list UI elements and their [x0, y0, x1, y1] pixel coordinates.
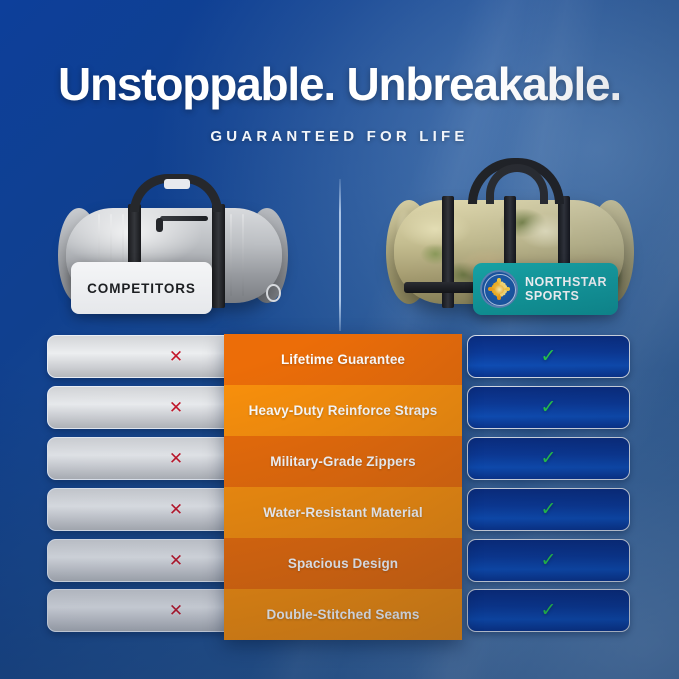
competitors-label-text: COMPETITORS [87, 281, 196, 296]
bag-clip [266, 284, 281, 302]
brand-cell: ✓ [467, 539, 630, 582]
check-icon: ✓ [541, 398, 557, 417]
bag-wrinkle [230, 214, 232, 296]
feature-column: Lifetime Guarantee Heavy-Duty Reinforce … [224, 334, 462, 640]
competitors-label: COMPETITORS [71, 262, 212, 314]
check-icon: ✓ [541, 551, 557, 570]
brand-cell: ✓ [467, 335, 630, 378]
cross-icon: ✕ [169, 399, 183, 416]
cross-icon: ✕ [169, 348, 183, 365]
compass-star-seal-icon [480, 270, 518, 308]
bag-handle-wrap [164, 179, 190, 189]
brand-name-line1: NORTHSTAR [525, 275, 607, 289]
cross-icon: ✕ [169, 501, 183, 518]
brand-badge: NORTHSTAR SPORTS [473, 263, 618, 315]
cross-icon: ✕ [169, 602, 183, 619]
check-icon: ✓ [541, 601, 557, 620]
page-subtitle: GUARANTEED FOR LIFE [0, 128, 679, 145]
feature-label: Heavy-Duty Reinforce Straps [224, 385, 462, 436]
page-title: Unstoppable. Unbreakable. [0, 57, 679, 111]
bag-zipper [160, 216, 208, 221]
feature-label: Lifetime Guarantee [224, 334, 462, 385]
feature-label: Double-Stitched Seams [224, 589, 462, 640]
bag-zipper-pull [156, 218, 163, 232]
brand-cell: ✓ [467, 386, 630, 429]
brand-cell: ✓ [467, 589, 630, 632]
brand-cell: ✓ [467, 437, 630, 480]
feature-label: Military-Grade Zippers [224, 436, 462, 487]
check-icon: ✓ [541, 347, 557, 366]
cross-icon: ✕ [169, 552, 183, 569]
brand-name-line2: SPORTS [525, 289, 607, 303]
feature-label: Spacious Design [224, 538, 462, 589]
brand-name: NORTHSTAR SPORTS [525, 275, 607, 303]
feature-label: Water-Resistant Material [224, 487, 462, 538]
bag-strap [212, 204, 225, 308]
check-icon: ✓ [541, 500, 557, 519]
product-comparison-graphic: Unstoppable. Unbreakable. GUARANTEED FOR… [0, 0, 679, 679]
bag-wrinkle [242, 214, 244, 296]
check-icon: ✓ [541, 449, 557, 468]
center-divider [339, 179, 341, 331]
brand-cell: ✓ [467, 488, 630, 531]
cross-icon: ✕ [169, 450, 183, 467]
